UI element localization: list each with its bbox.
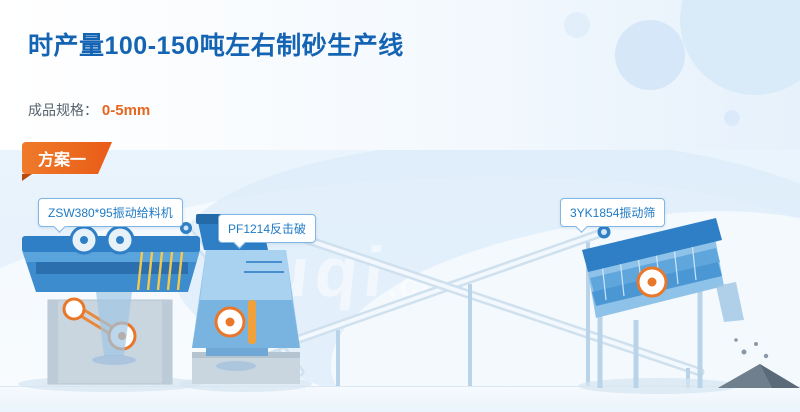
callout-feeder: ZSW380*95振动给料机 — [38, 198, 183, 227]
production-line-infographic: 时产量100-150吨左右制砂生产线 成品规格： 0-5mm 方案一 Nuqi.… — [0, 0, 800, 412]
material-particles — [734, 338, 768, 358]
callout-vibrating-screen: 3YK1854振动筛 — [560, 198, 665, 227]
callout-impact-crusher: PF1214反击破 — [218, 214, 316, 243]
vibrating-feeder — [18, 227, 202, 392]
